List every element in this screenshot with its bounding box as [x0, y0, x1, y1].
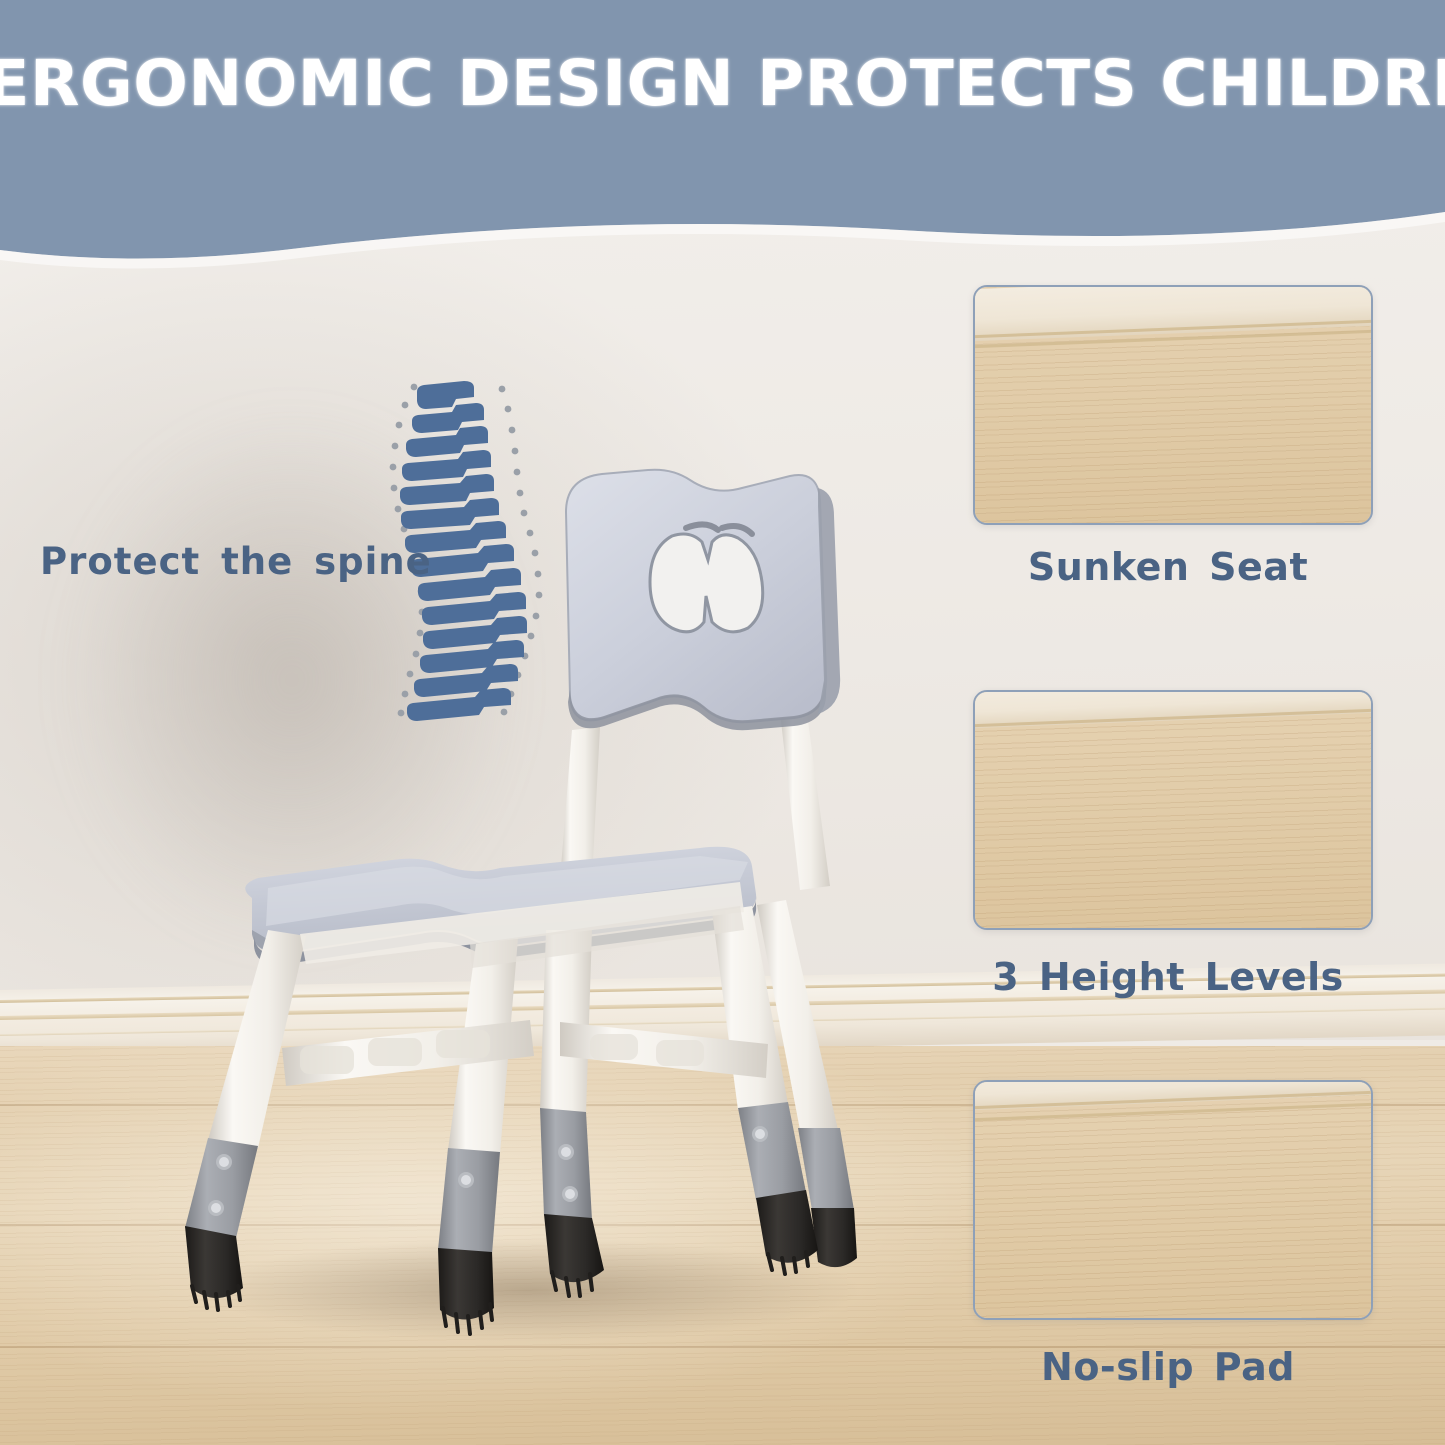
page-title: ERGONOMIC DESIGN PROTECTS CHILDREN: [0, 52, 1445, 115]
caption-height-levels: 3 Height Levels: [968, 955, 1368, 999]
panel-image-sunken-seat: [975, 287, 1371, 523]
feature-panel-height-levels[interactable]: [973, 690, 1373, 930]
panel-image-height-levels: [975, 692, 1371, 928]
caption-sunken-seat: Sunken Seat: [968, 545, 1368, 589]
header-band-shape: [0, 0, 1445, 270]
protect-the-spine-label: Protect the spine: [40, 540, 432, 583]
feature-panel-no-slip-pad[interactable]: [973, 1080, 1373, 1320]
header-banner: ERGONOMIC DESIGN PROTECTS CHILDREN: [0, 0, 1445, 270]
feature-panel-sunken-seat[interactable]: [973, 285, 1373, 525]
panel-floor-grain: [975, 692, 1371, 928]
caption-no-slip-pad: No-slip Pad: [968, 1345, 1368, 1389]
panel-image-no-slip-pad: [975, 1082, 1371, 1318]
